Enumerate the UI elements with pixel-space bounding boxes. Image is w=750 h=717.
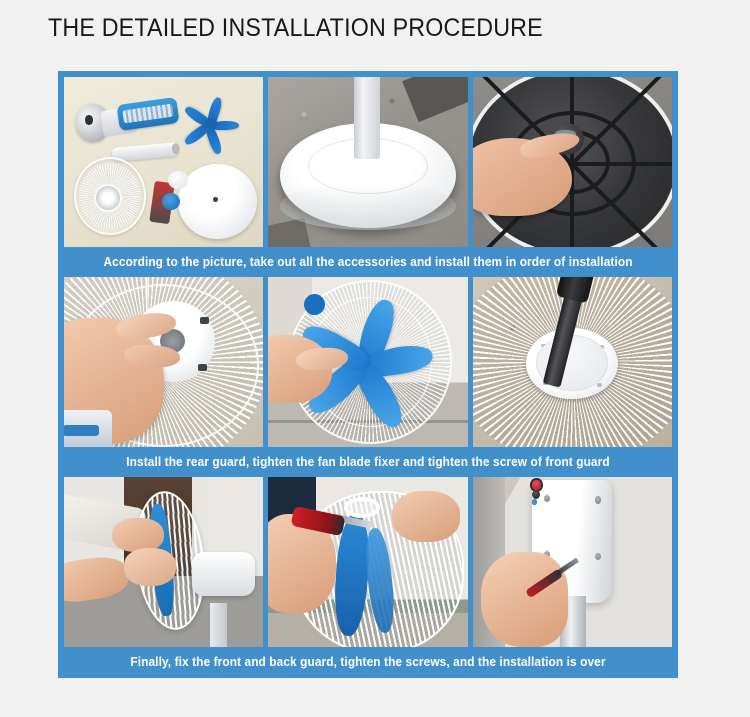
fan-blade-part — [182, 97, 248, 153]
step-2-caption: Install the rear guard, tighten the fan … — [79, 447, 657, 477]
blue-knob-part — [162, 193, 180, 210]
hand — [392, 491, 460, 542]
power-button-red — [532, 480, 541, 490]
photo-tighten-base-knob[interactable] — [473, 77, 672, 247]
small-knob-part — [168, 171, 188, 190]
bottle — [64, 410, 112, 447]
motor-housing — [192, 552, 256, 596]
step-row-2: Install the rear guard, tighten the fan … — [64, 277, 672, 477]
guard-hub-part — [96, 186, 120, 210]
fan-stand — [210, 603, 228, 647]
control-handle-part — [116, 97, 179, 131]
photo-tighten-front-guard-screw[interactable] — [473, 277, 672, 447]
step-1-images — [64, 77, 672, 247]
photo-base-on-floor[interactable] — [268, 77, 467, 247]
photo-attach-fan-blade[interactable] — [268, 277, 467, 447]
speed-button-dark — [532, 490, 540, 499]
photo-install-rear-guard[interactable] — [64, 277, 263, 447]
hand — [124, 548, 176, 585]
hand — [112, 518, 164, 552]
photo-tighten-control-housing[interactable] — [473, 477, 672, 647]
photo-tighten-guard-clip[interactable] — [268, 477, 467, 647]
step-3-images — [64, 477, 672, 647]
guard-clip — [344, 497, 380, 517]
hand — [481, 552, 569, 647]
photo-accessories-layout[interactable] — [64, 77, 263, 247]
procedure-frame: According to the picture, take out all t… — [58, 71, 678, 678]
photo-fit-front-guard[interactable] — [64, 477, 263, 647]
step-3-caption: Finally, fix the front and back guard, t… — [79, 647, 657, 677]
installation-procedure-page: THE DETAILED INSTALLATION PROCEDURE — [0, 0, 750, 717]
step-row-3: Finally, fix the front and back guard, t… — [64, 477, 672, 677]
step-1-caption: According to the picture, take out all t… — [79, 247, 657, 277]
indicator-button-blue — [532, 499, 537, 505]
page-title: THE DETAILED INSTALLATION PROCEDURE — [48, 14, 543, 43]
step-2-images — [64, 277, 672, 447]
base-disc-part — [178, 164, 258, 239]
step-row-1: According to the picture, take out all t… — [64, 77, 672, 277]
forearm — [64, 553, 130, 604]
floor-shadow — [402, 77, 468, 122]
fan-pole — [354, 77, 380, 159]
